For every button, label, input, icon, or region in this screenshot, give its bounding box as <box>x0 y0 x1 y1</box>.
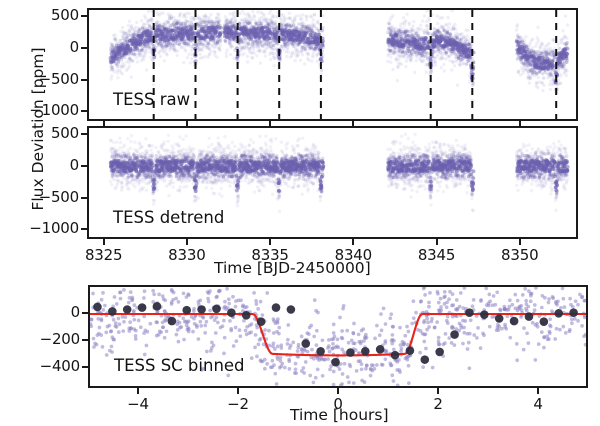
binned-data-point <box>331 358 340 367</box>
binned-data-point <box>242 311 251 320</box>
y-tick-mark <box>82 339 88 341</box>
binned-data-point <box>287 305 296 314</box>
binned-data-point <box>257 317 266 326</box>
panel-label-tess-sc-binned: TESS SC binned <box>114 356 245 375</box>
x-tick-label: −4 <box>98 395 178 413</box>
binned-data-point <box>361 347 370 356</box>
y-tick-mark <box>82 366 88 368</box>
y-tick-label: 0 <box>1 156 79 174</box>
binned-data-point <box>450 330 459 339</box>
binned-data-point <box>540 317 549 326</box>
binned-data-point <box>406 346 415 355</box>
y-tick-mark <box>81 79 87 81</box>
panel-tess-sc-binned: TESS SC binned <box>88 285 588 388</box>
figure-root: Flux Deviation [ppm] TESS raw TESS detre… <box>0 0 600 426</box>
x-tick-label: 0 <box>298 395 378 413</box>
y-tick-label: −400 <box>2 357 80 375</box>
binned-data-point <box>301 339 310 348</box>
x-tick-mark <box>103 121 105 127</box>
x-tick-label: 8340 <box>313 246 393 264</box>
x-tick-mark <box>352 239 354 245</box>
x-tick-label: 8325 <box>64 246 144 264</box>
y-tick-mark <box>81 197 87 199</box>
binned-data-point <box>391 351 400 360</box>
panel-tess-raw: TESS raw <box>87 8 578 121</box>
x-tick-mark <box>437 388 439 394</box>
y-tick-mark <box>82 312 88 314</box>
x-tick-mark <box>186 239 188 245</box>
binned-data-point <box>554 309 563 318</box>
binned-data-point <box>93 303 102 312</box>
y-tick-label: 500 <box>1 124 79 142</box>
x-tick-mark <box>237 388 239 394</box>
binned-data-point <box>421 355 430 364</box>
x-tick-label: 8335 <box>230 246 310 264</box>
panel-tess-detrend: TESS detrend <box>87 126 578 239</box>
y-tick-mark <box>81 47 87 49</box>
binned-data-point <box>153 302 162 311</box>
binned-data-point <box>495 314 504 323</box>
y-tick-label: 0 <box>2 303 80 321</box>
x-tick-mark <box>103 239 105 245</box>
y-tick-mark <box>81 110 87 112</box>
binned-data-point <box>435 348 444 357</box>
x-tick-mark <box>269 121 271 127</box>
y-tick-mark <box>81 133 87 135</box>
binned-data-point <box>376 345 385 354</box>
binned-data-point <box>569 308 578 317</box>
binned-data-point <box>108 307 117 316</box>
y-tick-label: 0 <box>1 38 79 56</box>
x-tick-label: 4 <box>498 395 578 413</box>
binned-data-point <box>465 308 474 317</box>
binned-data-point <box>182 306 191 315</box>
binned-data-point <box>316 347 325 356</box>
binned-data-point <box>510 317 519 326</box>
x-tick-mark <box>519 239 521 245</box>
panel-label-tess-detrend: TESS detrend <box>113 208 224 227</box>
x-tick-mark <box>537 388 539 394</box>
x-tick-mark <box>436 121 438 127</box>
y-tick-label: 500 <box>1 6 79 24</box>
panel-label-tess-raw: TESS raw <box>113 90 190 109</box>
y-tick-label: −1000 <box>1 219 79 237</box>
binned-data-point <box>168 317 177 326</box>
x-tick-label: 2 <box>398 395 478 413</box>
x-tick-mark <box>519 121 521 127</box>
y-tick-label: −1000 <box>1 101 79 119</box>
x-tick-mark <box>337 388 339 394</box>
binned-data-point <box>212 305 221 314</box>
x-tick-label: −2 <box>198 395 278 413</box>
y-tick-mark <box>81 228 87 230</box>
x-tick-mark <box>186 121 188 127</box>
binned-data-point <box>138 303 147 312</box>
y-tick-label: −500 <box>1 188 79 206</box>
binned-data-point <box>525 312 534 321</box>
y-tick-mark <box>81 15 87 17</box>
x-tick-label: 8350 <box>480 246 560 264</box>
x-tick-mark <box>269 239 271 245</box>
binned-data-point <box>197 305 206 314</box>
binned-data-point <box>272 303 281 312</box>
binned-data-point <box>227 308 236 317</box>
binned-data-point <box>123 305 132 314</box>
x-tick-mark <box>137 388 139 394</box>
x-tick-label: 8345 <box>397 246 477 264</box>
y-tick-label: −200 <box>2 330 80 348</box>
x-tick-label: 8330 <box>147 246 227 264</box>
y-tick-label: −500 <box>1 70 79 88</box>
x-tick-mark <box>352 121 354 127</box>
binned-data-point <box>480 310 489 319</box>
binned-data-point <box>346 348 355 357</box>
x-tick-mark <box>436 239 438 245</box>
y-tick-mark <box>81 165 87 167</box>
